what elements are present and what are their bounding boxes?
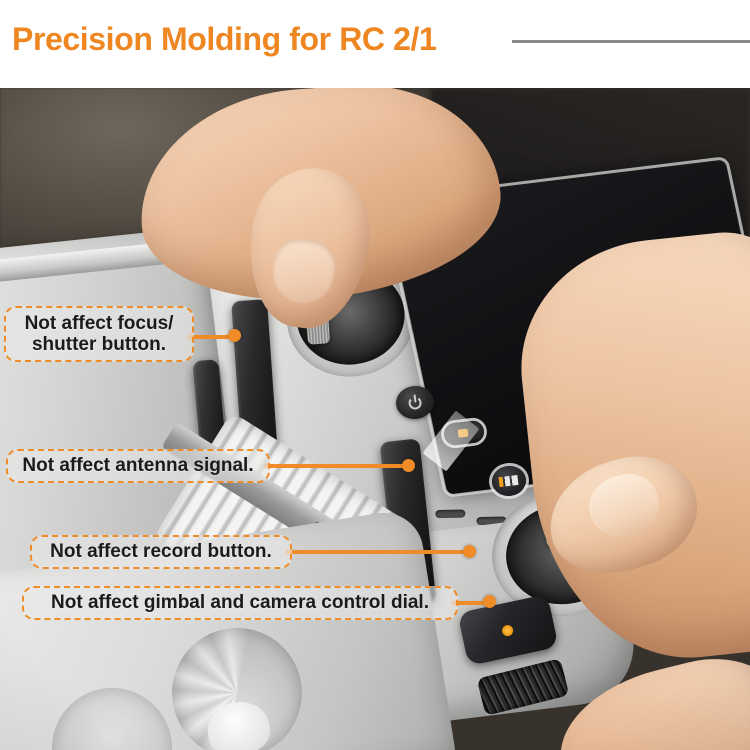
leader-dot-record xyxy=(463,545,476,558)
controller-port-slot-a xyxy=(435,510,465,519)
leader-line-record xyxy=(286,550,474,554)
page-title: Precision Molding for RC 2/1 xyxy=(12,21,436,58)
power-icon xyxy=(408,395,422,409)
product-photo xyxy=(0,88,750,750)
leader-dot-antenna xyxy=(402,459,415,472)
callout-record-button: Not affect record button. xyxy=(30,535,292,569)
right-thumbnail xyxy=(581,466,667,547)
title-rule-divider xyxy=(512,40,750,43)
left-thumbnail xyxy=(269,235,339,307)
product-feature-image: Precision Molding for RC 2/1 xyxy=(0,0,750,750)
callout-antenna: Not affect antenna signal. xyxy=(6,449,270,483)
header-bar: Precision Molding for RC 2/1 xyxy=(0,0,750,88)
leader-dot-dial xyxy=(483,595,496,608)
callout-gimbal-dial: Not affect gimbal and camera control dia… xyxy=(22,586,458,620)
callout-focus-shutter: Not affect focus/ shutter button. xyxy=(4,306,194,362)
leader-line-antenna xyxy=(264,464,410,468)
leader-dot-focus xyxy=(228,329,241,342)
